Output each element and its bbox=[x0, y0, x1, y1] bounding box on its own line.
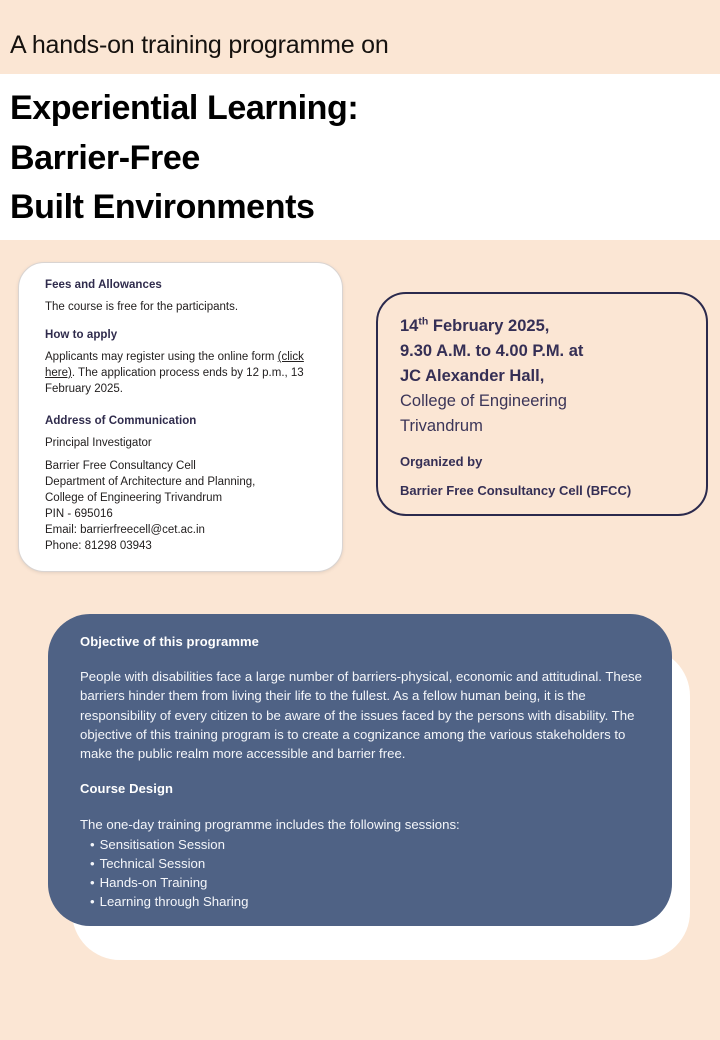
organizer-name: Barrier Free Consultancy Cell (BFCC) bbox=[400, 483, 690, 498]
page-title-line-3: Built Environments bbox=[10, 183, 700, 233]
info-card: Fees and Allowances The course is free f… bbox=[18, 262, 343, 572]
address-phone: Phone: 81298 03943 bbox=[45, 539, 320, 555]
poster-kicker: A hands-on training programme on bbox=[10, 31, 389, 60]
bullet-icon: • bbox=[90, 856, 95, 871]
event-date-day: 14 bbox=[400, 317, 418, 335]
objective-heading: Objective of this programme bbox=[80, 634, 644, 649]
session-label: Hands-on Training bbox=[100, 875, 208, 890]
event-institute-line-1: College of Engineering bbox=[400, 389, 690, 414]
how-to-apply-text-before: Applicants may register using the online… bbox=[45, 351, 278, 363]
list-item: •Sensitisation Session bbox=[90, 835, 644, 854]
session-label: Sensitisation Session bbox=[100, 837, 225, 852]
fees-heading: Fees and Allowances bbox=[45, 279, 320, 291]
page-title-line-2: Barrier-Free bbox=[10, 134, 700, 184]
list-item: •Technical Session bbox=[90, 854, 644, 873]
objective-panel: Objective of this programme People with … bbox=[48, 614, 672, 926]
address-email[interactable]: Email: barrierfreecell@cet.ac.in bbox=[45, 523, 320, 539]
event-hall: JC Alexander Hall, bbox=[400, 364, 690, 389]
address-line: Barrier Free Consultancy Cell bbox=[45, 459, 320, 475]
how-to-apply-text-after: . The application process ends by 12 p.m… bbox=[45, 367, 304, 395]
course-design-heading: Course Design bbox=[80, 781, 644, 796]
event-institute-line-2: Trivandrum bbox=[400, 414, 690, 439]
page-title: Experiential Learning: Barrier-Free Buil… bbox=[10, 84, 700, 233]
event-date: 14th February 2025, bbox=[400, 314, 690, 339]
address-block: Barrier Free Consultancy Cell Department… bbox=[45, 459, 320, 555]
fees-text: The course is free for the participants. bbox=[45, 300, 320, 316]
session-label: Technical Session bbox=[100, 856, 206, 871]
objective-text: People with disabilities face a large nu… bbox=[80, 667, 644, 763]
how-to-apply-text: Applicants may register using the online… bbox=[45, 350, 320, 398]
how-to-apply-heading: How to apply bbox=[45, 329, 320, 341]
event-date-month-year: February 2025, bbox=[428, 317, 549, 335]
session-list: •Sensitisation Session •Technical Sessio… bbox=[80, 835, 644, 911]
address-line: PIN - 695016 bbox=[45, 507, 320, 523]
event-date-ordinal: th bbox=[418, 316, 428, 328]
address-role: Principal Investigator bbox=[45, 436, 320, 452]
address-line: Department of Architecture and Planning, bbox=[45, 475, 320, 491]
session-label: Learning through Sharing bbox=[100, 894, 249, 909]
address-heading: Address of Communication bbox=[45, 415, 320, 427]
bullet-icon: • bbox=[90, 875, 95, 890]
bullet-icon: • bbox=[90, 894, 95, 909]
bullet-icon: • bbox=[90, 837, 95, 852]
venue-card: 14th February 2025, 9.30 A.M. to 4.00 P.… bbox=[376, 292, 708, 516]
organized-by-label: Organized by bbox=[400, 454, 690, 469]
event-time: 9.30 A.M. to 4.00 P.M. at bbox=[400, 339, 690, 364]
course-design-intro: The one-day training programme includes … bbox=[80, 815, 644, 834]
page-title-line-1: Experiential Learning: bbox=[10, 84, 700, 134]
list-item: •Learning through Sharing bbox=[90, 892, 644, 911]
address-line: College of Engineering Trivandrum bbox=[45, 491, 320, 507]
list-item: •Hands-on Training bbox=[90, 873, 644, 892]
